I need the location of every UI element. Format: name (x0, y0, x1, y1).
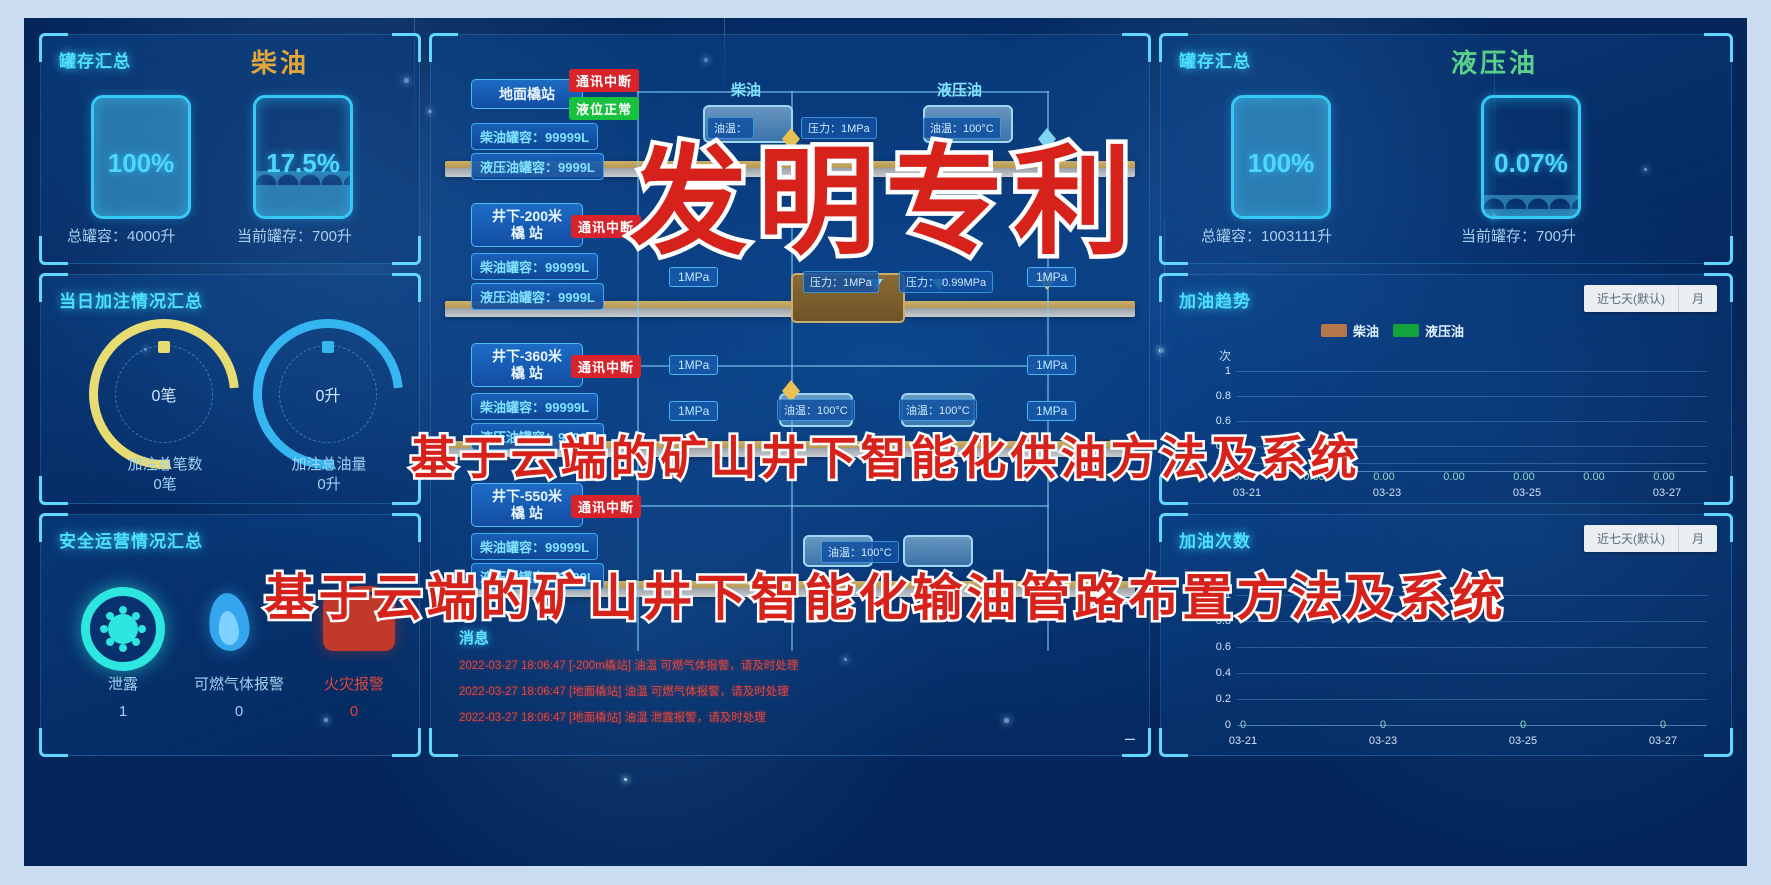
corner-decor (392, 33, 421, 62)
station-name-line2: 橇 站 (481, 225, 573, 242)
safety-value-leak: 1 (63, 703, 183, 720)
corner-decor (429, 728, 458, 757)
chart-ytick: 0.8 (1205, 390, 1231, 402)
chart-xtick: 03-23 (1365, 487, 1409, 499)
corner-decor (39, 236, 68, 265)
station-name-line2: 橇 站 (481, 365, 573, 382)
chart-xtick: 03-25 (1501, 735, 1545, 747)
corner-decor (392, 236, 421, 265)
messages-title: 消息 (459, 627, 489, 648)
panel-title-daily-fill: 当日加注情况汇总 (59, 287, 203, 312)
daily-fill-volume-caption: 加注总油量 (251, 453, 407, 474)
tank-fill (1484, 209, 1578, 216)
tank-total-caption-right: 总罐容：1003111升 (1201, 225, 1332, 246)
chart-point-label: 0.00 (1439, 471, 1469, 483)
tank-gauge-current-right: 0.07% (1481, 95, 1581, 219)
station-label-200m[interactable]: 井下-200米 橇 站 (471, 203, 583, 247)
station-info-diesel-360m: 柴油罐容：99999L (471, 393, 598, 420)
chart-gridline (1237, 396, 1707, 397)
station-info-diesel-ground: 柴油罐容：99999L (471, 123, 598, 150)
range-toggle-count: 近七天(默认) 月 (1584, 525, 1717, 552)
station-name-line2: 橇 站 (481, 505, 573, 522)
status-badge-comm: 通讯中断 (571, 495, 641, 518)
status-badge-comm: 通讯中断 (571, 355, 641, 378)
chart-point-label: 0 (1371, 719, 1395, 731)
chart-xtick: 03-21 (1225, 487, 1269, 499)
pressure-tag-1mpa: 1MPa (669, 355, 718, 375)
chart-point-label: 0 (1511, 719, 1535, 731)
chart-legend-trend: 柴油 液压油 (1321, 321, 1464, 340)
station-name-line1: 井下-550米 (481, 488, 573, 505)
chart-point-label: 0.00 (1369, 471, 1399, 483)
tank-current-caption-right: 当前罐存：700升 (1461, 225, 1576, 246)
panel-title-refuel-count: 加油次数 (1179, 527, 1251, 552)
panel-safety-summary: 安全运营情况汇总 泄露 1 可燃气体报警 0 火灾报警 0 (40, 514, 420, 756)
legend-swatch-diesel (1321, 324, 1347, 337)
station-label-ground[interactable]: 地面橇站 (471, 79, 583, 109)
chart-point-label: 0.00 (1649, 471, 1679, 483)
safety-value-gas: 0 (169, 703, 309, 720)
panel-refuel-count: 加油次数 近七天(默认) 月 1 0.8 0.6 0.4 0.2 0 0 0 0… (1160, 514, 1732, 756)
pressure-tag-1mpa: 1MPa (1027, 355, 1076, 375)
chart-ytick: 0.2 (1205, 693, 1231, 705)
chart-gridline (1237, 699, 1707, 700)
panel-daily-fill-summary: 当日加注情况汇总 0笔 0升 加注总笔数 0笔 加注总油量 0升 (40, 274, 420, 504)
chart-xtick: 03-27 (1645, 487, 1689, 499)
chart-point-label: 0 (1651, 719, 1675, 731)
station-info-diesel-550m: 柴油罐容：99999L (471, 533, 598, 560)
chart-xtick: 03-27 (1641, 735, 1685, 747)
chart-ylabel-trend: 次 (1219, 347, 1231, 364)
gauge-fill-volume: 0升 (253, 319, 403, 469)
corner-decor (39, 728, 68, 757)
product-label-diesel: 柴油 (251, 43, 309, 80)
range-option-seven-days[interactable]: 近七天(默认) (1584, 525, 1679, 552)
collapse-icon[interactable]: – (1125, 728, 1135, 749)
panel-title-tank-summary-right: 罐存汇总 (1179, 47, 1251, 72)
status-badge-comm: 通讯中断 (569, 69, 639, 92)
safety-label-gas: 可燃气体报警 (169, 673, 309, 694)
pressure-tag-1mpa: 1MPa (1027, 401, 1076, 421)
chart-point-label: 0 (1231, 719, 1255, 731)
corner-decor (392, 513, 421, 542)
chart-gridline (1237, 647, 1707, 648)
message-line: 2022-03-27 18:06:47 [-200m橇站] 油温 可燃气体报警，… (459, 657, 798, 673)
tank-total-percent: 100% (1234, 148, 1328, 179)
watermark-title: 发明专利 (629, 106, 1141, 277)
daily-fill-volume-value: 0升 (251, 473, 407, 494)
corner-decor (392, 728, 421, 757)
pressure-tag-1mpa: 1MPa (669, 401, 718, 421)
tank-total-caption-left: 总罐容：4000升 (67, 225, 175, 246)
safety-value-fire: 0 (299, 703, 409, 720)
station-info-hydraulic-ground: 液压油罐容：9999L (471, 153, 604, 180)
chart-ytick: 0.4 (1205, 667, 1231, 679)
station-label-550m[interactable]: 井下-550米 橇 站 (471, 483, 583, 527)
chart-point-label: 0.00 (1579, 471, 1609, 483)
tank-gauge-total-right: 100% (1231, 95, 1331, 219)
pipe-horizontal-top (637, 91, 1049, 93)
range-option-month[interactable]: 月 (1679, 525, 1717, 552)
schematic-label-diesel: 柴油 (731, 79, 761, 100)
gauge-fill-count: 0笔 (89, 319, 239, 469)
range-toggle-trend: 加油趋势 近七天(默认) 月 (1584, 285, 1717, 312)
legend-swatch-hydraulic (1393, 324, 1419, 337)
daily-fill-count-value: 0笔 (87, 473, 243, 494)
legend-item-diesel: 柴油 (1321, 321, 1379, 340)
corner-decor (1122, 33, 1151, 62)
corner-decor (429, 33, 458, 62)
chart-point-label: 0.00 (1509, 471, 1539, 483)
chart-xtick: 03-21 (1221, 735, 1265, 747)
panel-title-tank-summary-left: 罐存汇总 (59, 47, 131, 72)
station-name-line1: 井下-360米 (481, 348, 573, 365)
panel-tank-summary-hydraulic: 罐存汇总 液压油 100% 0.07% 总罐容：1003111升 当前罐存：70… (1160, 34, 1732, 264)
chart-xtick: 03-25 (1505, 487, 1549, 499)
dashboard-screen: 罐存汇总 柴油 100% 17.5% 总罐容：4000升 当前罐存：700升 当… (24, 18, 1747, 866)
chart-ytick: 1 (1205, 365, 1231, 377)
flame-icon (206, 591, 252, 653)
daily-fill-count-caption: 加注总笔数 (87, 453, 243, 474)
chart-axis-x (1237, 725, 1707, 726)
watermark-patent-line-2: 基于云端的矿山井下智能化输油管路布置方法及系统 (265, 558, 1507, 630)
tank-current-percent: 17.5% (256, 148, 350, 179)
pipe-horizontal-low (637, 505, 1049, 507)
chart-gridline (1237, 673, 1707, 674)
legend-label-hydraulic: 液压油 (1425, 321, 1464, 340)
legend-item-hydraulic: 液压油 (1393, 321, 1464, 340)
panel-title-refuel-trend: 加油趋势 (1179, 287, 1251, 312)
tank-current-percent: 0.07% (1484, 148, 1578, 179)
chart-gridline (1237, 371, 1707, 372)
chart-ytick: 0 (1205, 719, 1231, 731)
tank-wave (1484, 195, 1578, 209)
safety-label-leak: 泄露 (63, 673, 183, 694)
corner-decor (39, 476, 68, 505)
tank-gauge-total-left: 100% (91, 95, 191, 219)
gauge-fill-count-value: 0笔 (89, 319, 239, 469)
gear-icon (81, 587, 165, 671)
range-option-month[interactable]: 月 (1679, 285, 1717, 312)
tank-gauge-current-left: 17.5% (253, 95, 353, 219)
chart-xtick: 03-23 (1361, 735, 1405, 747)
station-info-diesel-200m: 柴油罐容：99999L (471, 253, 598, 280)
watermark-patent-line-1: 基于云端的矿山井下智能化供油方法及系统 (411, 422, 1361, 488)
sensor-temp-mid-right: 油温：100°C (899, 399, 977, 421)
corner-decor (1159, 236, 1188, 265)
panel-title-safety: 安全运营情况汇总 (59, 527, 203, 552)
gauge-fill-volume-value: 0升 (253, 319, 403, 469)
message-line: 2022-03-27 18:06:47 [地面橇站] 油温 可燃气体报警，请及时… (459, 683, 789, 699)
tank-fill (256, 185, 350, 216)
sensor-temp-mid-left: 油温：100°C (777, 399, 855, 421)
corner-decor (1704, 236, 1733, 265)
panel-tank-summary-diesel: 罐存汇总 柴油 100% 17.5% 总罐容：4000升 当前罐存：700升 (40, 34, 420, 264)
safety-label-fire: 火灾报警 (299, 673, 409, 694)
chart-ytick: 0.6 (1205, 641, 1231, 653)
station-name-line1: 井下-200米 (481, 208, 573, 225)
corner-decor (1704, 33, 1733, 62)
tank-total-percent: 100% (94, 148, 188, 179)
screenshot-root: 罐存汇总 柴油 100% 17.5% 总罐容：4000升 当前罐存：700升 当… (0, 0, 1771, 885)
range-option-seven-days[interactable]: 近七天(默认) (1584, 285, 1679, 312)
corner-decor (392, 273, 421, 302)
station-info-hydraulic-200m: 液压油罐容：9999L (471, 283, 604, 310)
schematic-label-hydraulic: 液压油 (937, 79, 982, 100)
tank-current-caption-left: 当前罐存：700升 (237, 225, 352, 246)
legend-label-diesel: 柴油 (1353, 321, 1379, 340)
station-label-360m[interactable]: 井下-360米 橇 站 (471, 343, 583, 387)
product-label-hydraulic: 液压油 (1451, 43, 1538, 80)
message-line: 2022-03-27 18:06:47 [地面橇站] 油温 泄露报警，请及时处理 (459, 709, 766, 725)
